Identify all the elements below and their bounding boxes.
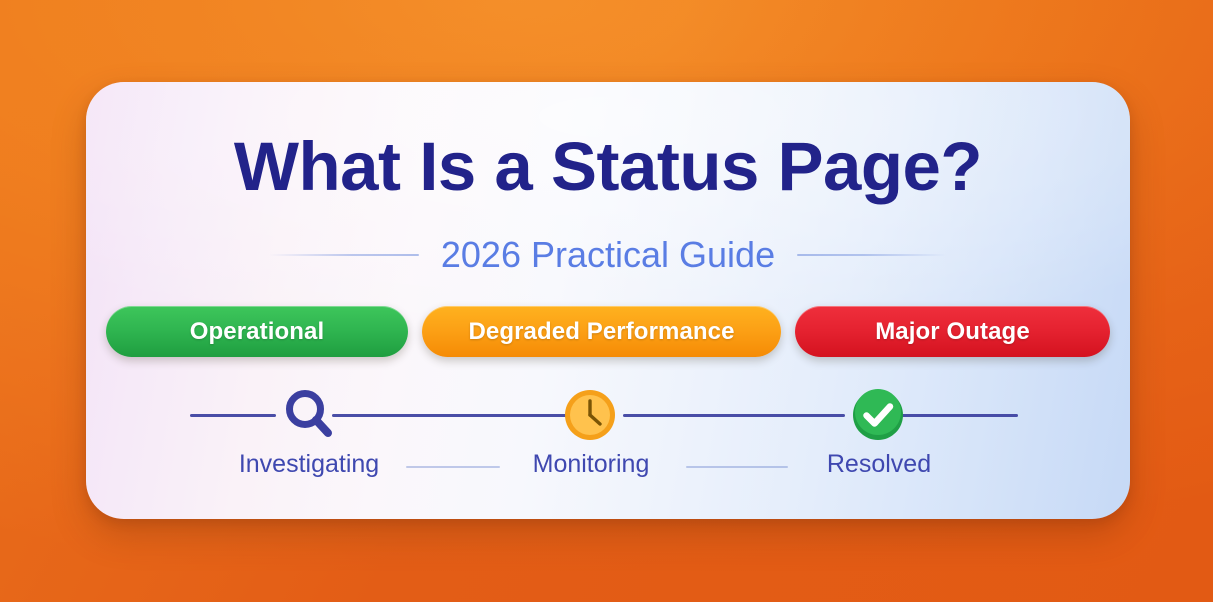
check-circle-icon [851,388,905,442]
status-badge-group: Operational Degraded Performance Major O… [86,306,1130,357]
status-badge-degraded-performance[interactable]: Degraded Performance [422,306,781,357]
timeline-label-investigating: Investigating [225,450,393,479]
status-page-card: What Is a Status Page? 2026 Practical Gu… [86,82,1130,519]
timeline-step-investigating[interactable] [276,382,342,448]
page-title: What Is a Status Page? [86,130,1130,203]
timeline-step-resolved[interactable] [845,382,911,448]
status-badge-operational[interactable]: Operational [106,306,408,357]
subtitle-row: 2026 Practical Guide [86,234,1130,276]
magnifier-icon [278,384,340,446]
subtitle-rule-left [269,254,419,256]
timeline-step-monitoring[interactable] [557,382,623,448]
subtitle-rule-right [797,254,947,256]
timeline-label-resolved: Resolved [800,450,958,479]
clock-icon [563,388,617,442]
timeline-labels: Investigating Monitoring Resolved [190,450,1018,484]
timeline-segment-end [901,414,1018,417]
timeline-segment-start [190,414,276,417]
timeline-label-monitoring: Monitoring [508,450,674,479]
timeline-segment-2-3 [623,414,845,417]
status-badge-major-outage[interactable]: Major Outage [795,306,1110,357]
page-subtitle: 2026 Practical Guide [441,234,775,276]
timeline-segment-1-2 [332,414,567,417]
timeline-label-rule-1 [406,466,500,468]
timeline-label-rule-2 [686,466,788,468]
